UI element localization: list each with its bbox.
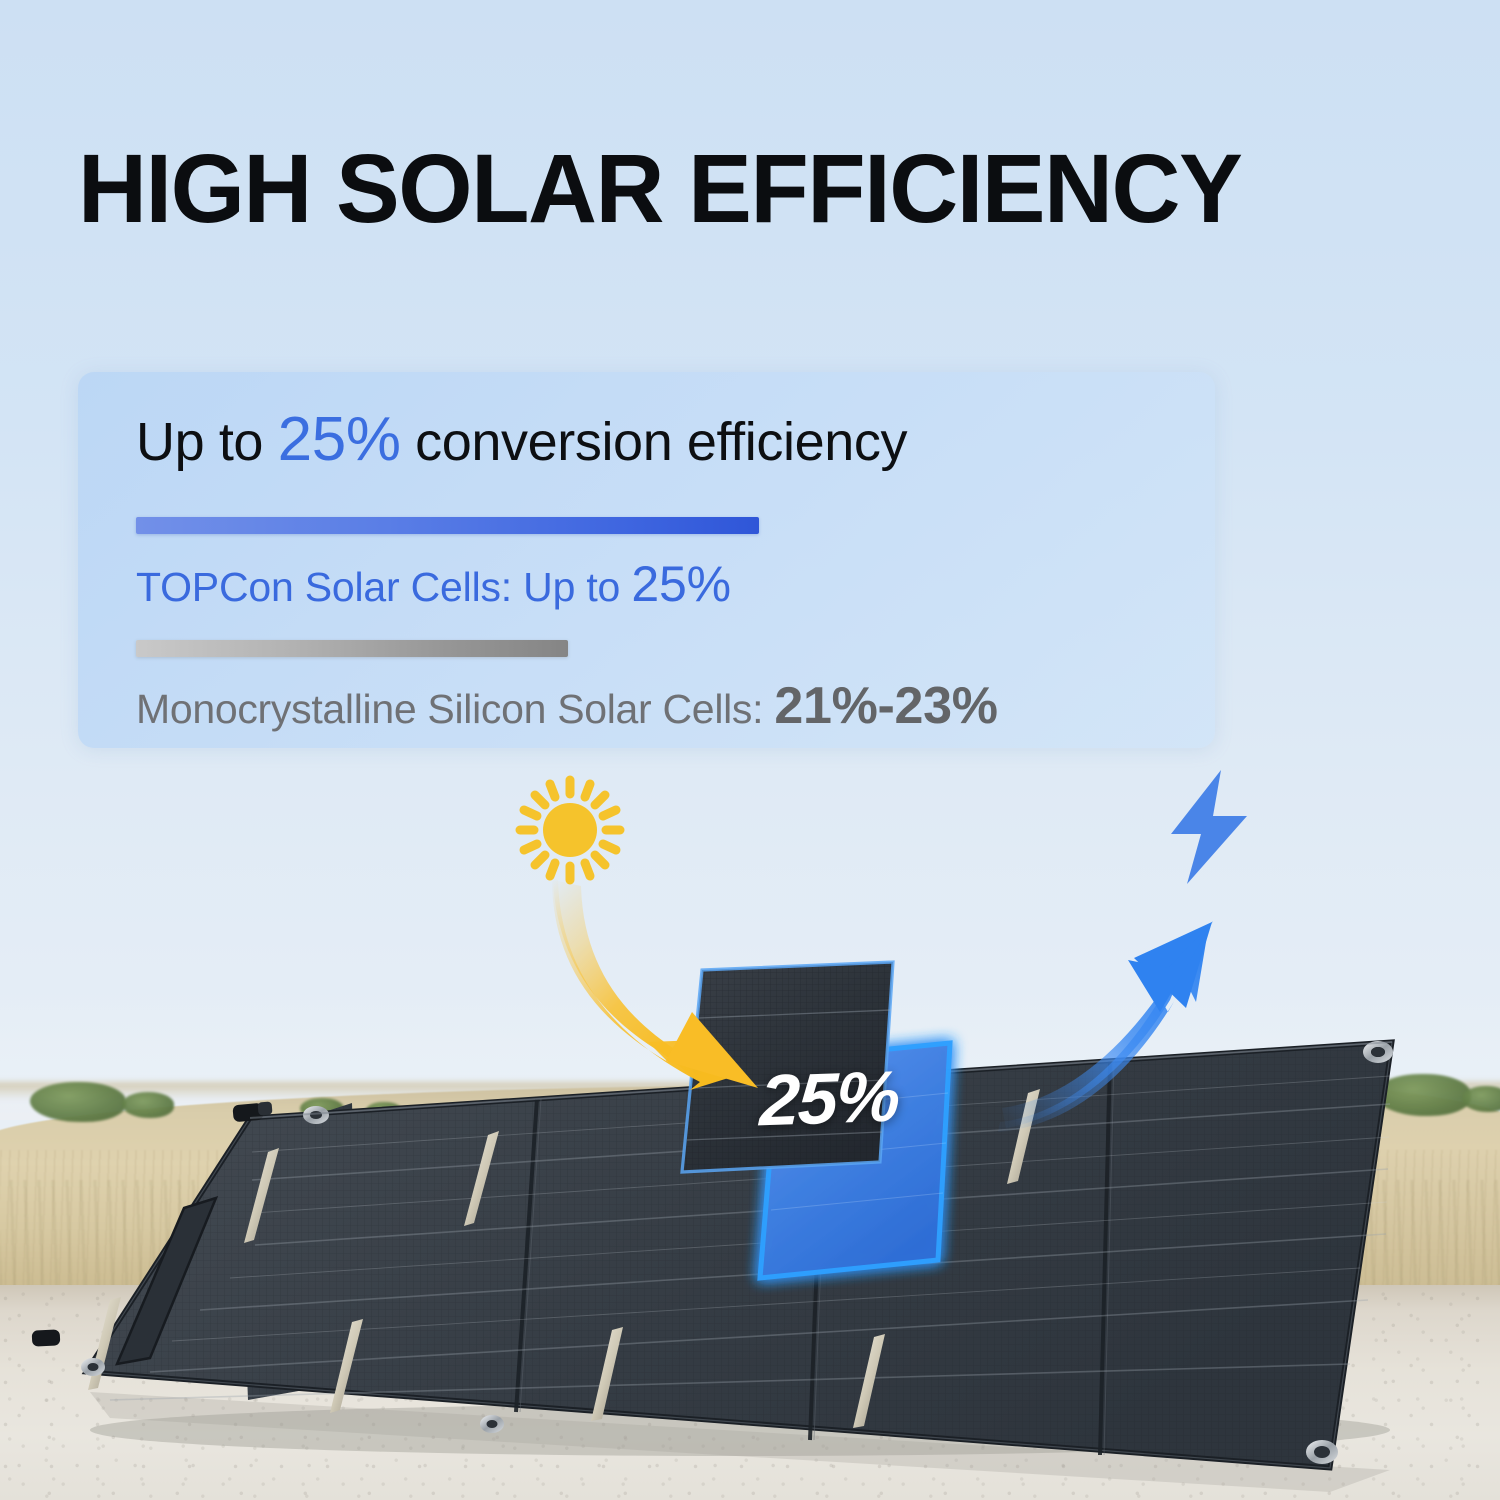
bar-topcon	[136, 517, 759, 534]
bar-topcon-label: TOPCon Solar Cells: Up to 25%	[136, 555, 731, 613]
bar-monocrystalline-label-prefix: Monocrystalline Silicon Solar Cells:	[136, 686, 774, 732]
shrub-icon	[30, 1082, 126, 1122]
product-feature-banner: 25%	[0, 0, 1500, 1500]
hill-ridge	[0, 1082, 1500, 1100]
card-headline-prefix: Up to	[136, 412, 278, 472]
lightning-bolt-icon	[1157, 768, 1261, 886]
bar-topcon-label-value: 25%	[631, 556, 730, 612]
bar-monocrystalline-label: Monocrystalline Silicon Solar Cells: 21%…	[136, 676, 998, 736]
card-headline: Up to 25% conversion efficiency	[136, 404, 907, 475]
shrub-icon	[366, 1102, 402, 1120]
card-headline-highlight: 25%	[278, 405, 401, 474]
shrub-icon	[300, 1098, 344, 1120]
bar-topcon-label-prefix: TOPCon Solar Cells: Up to	[136, 564, 631, 610]
sun-icon	[500, 772, 640, 894]
outdoor-scene	[0, 1030, 1500, 1500]
shrub-icon	[1292, 1080, 1362, 1112]
shrub-icon	[1375, 1074, 1471, 1116]
efficiency-info-card: Up to 25% conversion efficiency TOPCon S…	[78, 372, 1215, 748]
shrub-icon	[560, 1104, 608, 1124]
callout-value: 25%	[758, 1056, 899, 1143]
card-headline-suffix: conversion efficiency	[401, 412, 907, 472]
shrub-icon	[122, 1092, 174, 1118]
page-title: HIGH SOLAR EFFICIENCY	[78, 140, 1418, 237]
gravel-texture	[0, 1285, 1500, 1500]
bar-monocrystalline	[136, 640, 568, 657]
bar-monocrystalline-label-value: 21%-23%	[774, 677, 997, 735]
